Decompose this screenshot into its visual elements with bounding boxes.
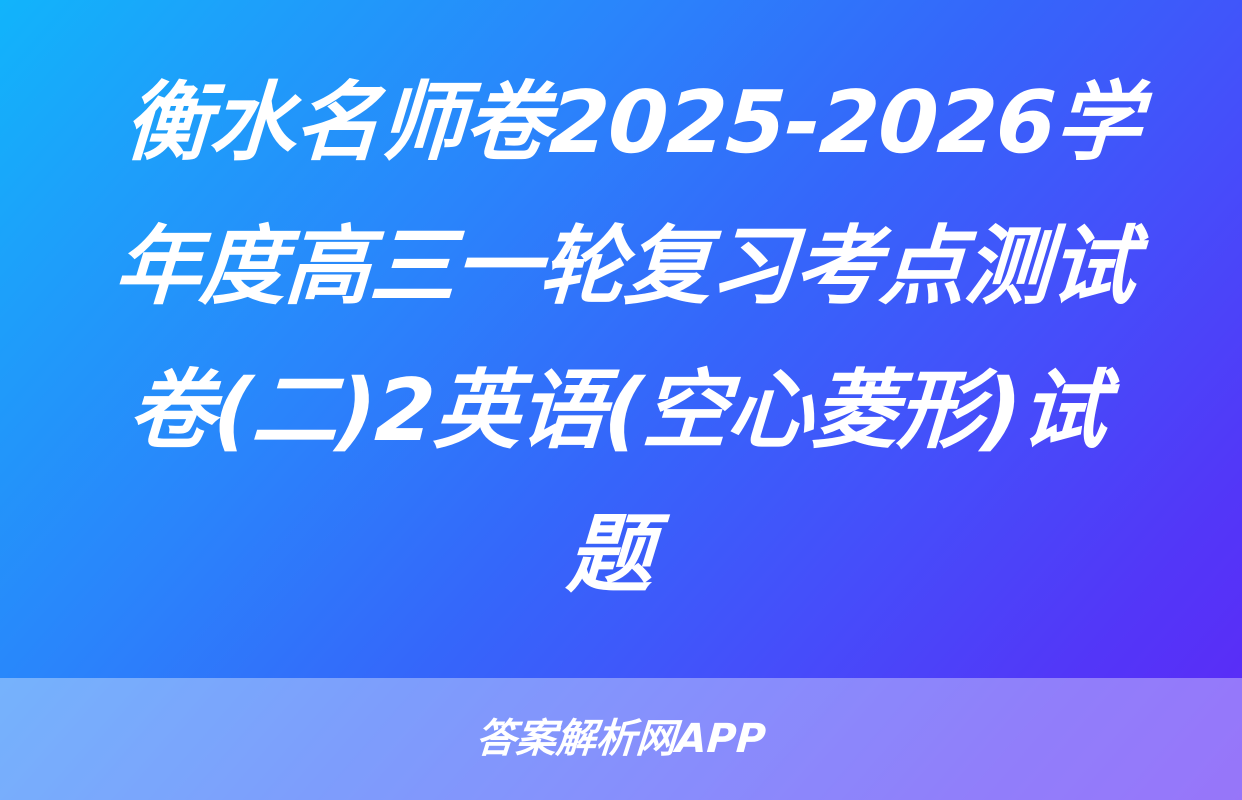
footer-band: 答案解析网APP	[0, 678, 1242, 800]
title-block: 衡水名师卷2025-2026学年度高三一轮复习考点测试卷(二)2英语(空心菱形)…	[0, 0, 1242, 678]
promo-banner: 衡水名师卷2025-2026学年度高三一轮复习考点测试卷(二)2英语(空心菱形)…	[0, 0, 1242, 800]
page-title: 衡水名师卷2025-2026学年度高三一轮复习考点测试卷(二)2英语(空心菱形)…	[76, 51, 1166, 627]
app-brand-label: 答案解析网APP	[475, 719, 767, 759]
